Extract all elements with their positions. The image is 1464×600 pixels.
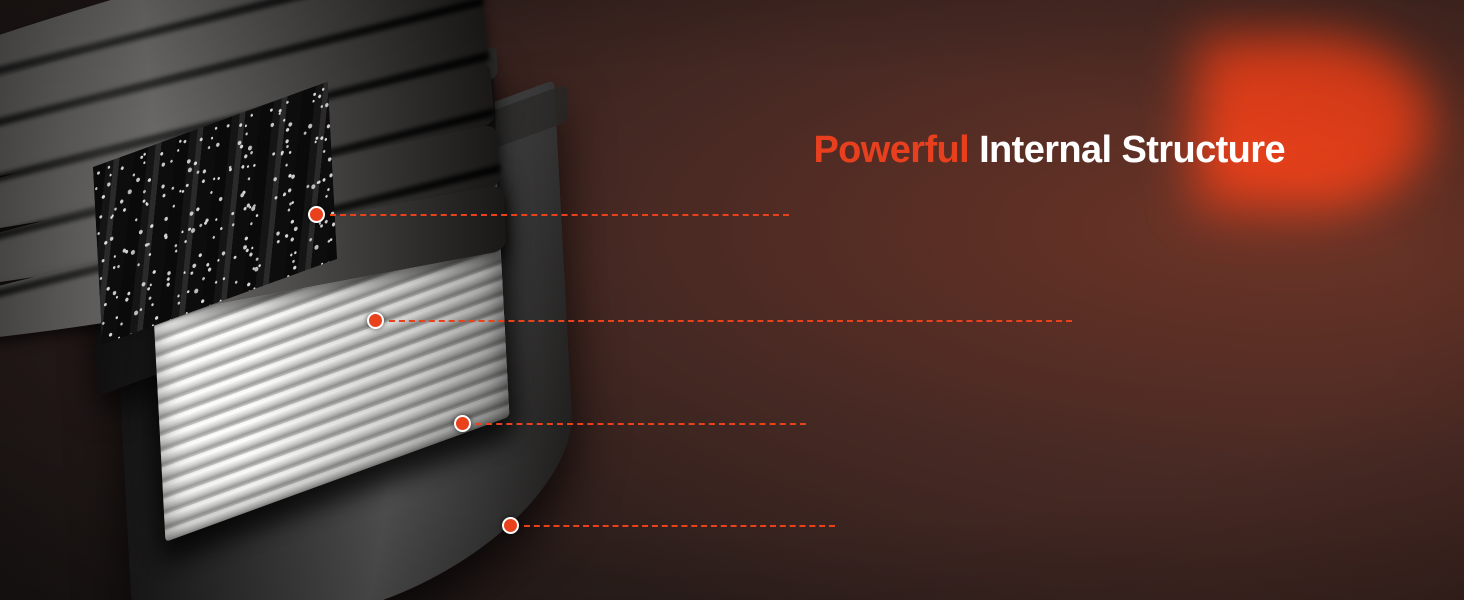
- callout-leader-line: [476, 423, 806, 425]
- page-title-rest: Internal Structure: [969, 129, 1285, 171]
- product-feature-banner: Powerful Internal Structure Bottom Secti…: [0, 0, 1464, 600]
- callout-marker-dot[interactable]: [367, 312, 384, 329]
- red-glow-blob: [1196, 36, 1428, 208]
- callout-leader-line: [524, 525, 835, 527]
- page-title: Powerful Internal Structure: [813, 131, 1285, 169]
- callout-marker-dot[interactable]: [454, 415, 471, 432]
- belt-product-render: [0, 0, 690, 600]
- callout-leader-line: [330, 214, 789, 216]
- callout-marker-dot[interactable]: [502, 517, 519, 534]
- callout-leader-line: [389, 320, 1072, 322]
- callout-marker-dot[interactable]: [308, 206, 325, 223]
- page-title-accent: Powerful: [813, 129, 969, 171]
